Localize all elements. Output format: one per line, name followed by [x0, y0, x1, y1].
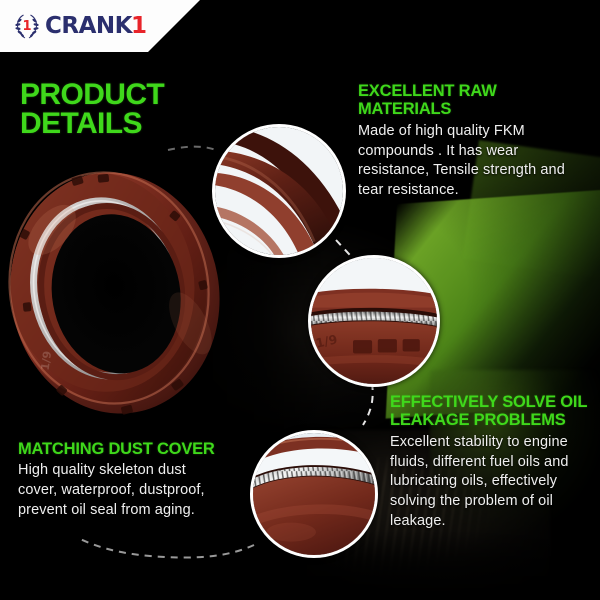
feature-body: High quality skeleton dust cover, waterp…: [18, 461, 228, 520]
feature-dust-cover: MATCHING DUST COVER High quality skeleto…: [18, 440, 228, 521]
callout-garter-spring: 1/9: [308, 255, 440, 387]
callout-seal-lip-edge: [212, 124, 346, 258]
feature-heading: EXCELLENT RAW MATERIALS: [358, 82, 584, 119]
callout-seal-spring-angle: [250, 430, 378, 558]
page-title-line1: PRODUCT: [20, 80, 260, 109]
emblem-number: 1: [22, 19, 31, 34]
product-details-infographic: 1/9: [0, 0, 600, 600]
feature-raw-materials: EXCELLENT RAW MATERIALS Made of high qua…: [358, 82, 584, 201]
feature-oil-leakage: EFFECTIVELY SOLVE OIL LEAKAGE PROBLEMS E…: [390, 393, 590, 532]
page-title-line2: DETAILS: [20, 109, 260, 138]
svg-text:1/9: 1/9: [39, 350, 55, 371]
logo-text-crank: CRANK: [45, 15, 132, 38]
oil-seal-product-image: 1/9: [0, 151, 244, 435]
page-title: PRODUCT DETAILS: [20, 80, 260, 139]
logo-text-one: 1: [131, 15, 147, 38]
feature-heading: MATCHING DUST COVER: [18, 440, 228, 458]
laurel-wreath-icon: 1: [14, 12, 40, 40]
crank1-logo[interactable]: 1 CRANK1: [14, 9, 146, 43]
feature-heading: EFFECTIVELY SOLVE OIL LEAKAGE PROBLEMS: [390, 393, 590, 430]
feature-body: Excellent stability to engine fluids, di…: [390, 433, 590, 532]
logo-wordmark: CRANK1: [45, 15, 146, 38]
feature-body: Made of high quality FKM compounds . It …: [358, 122, 584, 201]
